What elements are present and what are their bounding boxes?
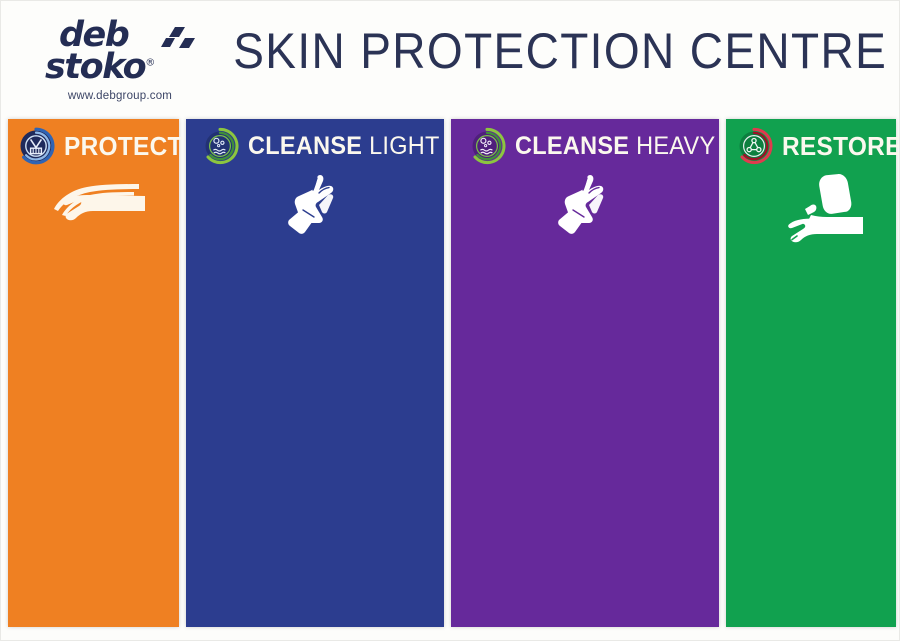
panel-protect[interactable]: PROTECT [8, 119, 179, 627]
panel-restore[interactable]: RESTORE [726, 119, 896, 627]
panel-cleanse-heavy-label-light-word: HEAVY [636, 132, 715, 160]
restore-molecule-badge-icon [734, 126, 774, 166]
cleanse-bubbles-badge-icon [467, 126, 507, 166]
panel-protect-label: PROTECT [64, 131, 183, 162]
header-bar: deb stoko® www.debgroup.com SKIN PROTECT… [1, 1, 900, 117]
panel-row: PROTECT [1, 119, 900, 627]
panel-cleanse-light-artwork [186, 173, 444, 243]
brand-logo: deb stoko® www.debgroup.com [45, 19, 195, 102]
panel-cleanse-heavy-artwork [451, 173, 719, 243]
page-title: SKIN PROTECTION CENTRE [233, 23, 859, 79]
protect-shield-badge-icon [16, 126, 56, 166]
panel-cleanse-heavy-label: CLEANSE HEAVY [515, 132, 715, 161]
panel-protect-header: PROTECT [8, 119, 179, 173]
panel-cleanse-heavy-label-space [629, 132, 636, 160]
panel-cleanse-light-header: CLEANSE LIGHT [186, 119, 444, 173]
logo-website-url: www.debgroup.com [45, 90, 195, 102]
panel-protect-label-strong: PROTECT [64, 131, 183, 161]
logo-line-stoko: stoko® [45, 51, 195, 83]
logo-stoko-text: stoko [45, 47, 145, 87]
logo-registered-mark: ® [145, 58, 154, 69]
panel-cleanse-light-label-strong: CLEANSE [248, 132, 362, 160]
hand-with-barrier-film-icon [49, 173, 145, 236]
panel-cleanse-light-label-light-word: LIGHT [369, 132, 440, 160]
cleanse-bubbles-badge-icon [200, 126, 240, 166]
panel-restore-label-strong: RESTORE [782, 131, 900, 161]
panel-cleanse-light-label-light [362, 132, 369, 160]
panel-cleanse-heavy[interactable]: CLEANSE HEAVY [451, 119, 719, 627]
skin-protection-centre-board: deb stoko® www.debgroup.com SKIN PROTECT… [0, 0, 900, 641]
washing-hands-icon [552, 173, 618, 240]
panel-restore-artwork [726, 173, 896, 243]
panel-restore-label: RESTORE [782, 131, 900, 162]
washing-hands-icon [282, 173, 348, 240]
tube-dispensing-onto-hand-icon [767, 173, 863, 248]
panel-cleanse-heavy-label-strong: CLEANSE [515, 132, 629, 160]
panel-cleanse-heavy-header: CLEANSE HEAVY [451, 119, 719, 173]
panel-protect-artwork [8, 173, 179, 243]
panel-restore-header: RESTORE [726, 119, 896, 173]
panel-cleanse-light[interactable]: CLEANSE LIGHT [186, 119, 444, 627]
panel-cleanse-light-label: CLEANSE LIGHT [248, 132, 440, 161]
